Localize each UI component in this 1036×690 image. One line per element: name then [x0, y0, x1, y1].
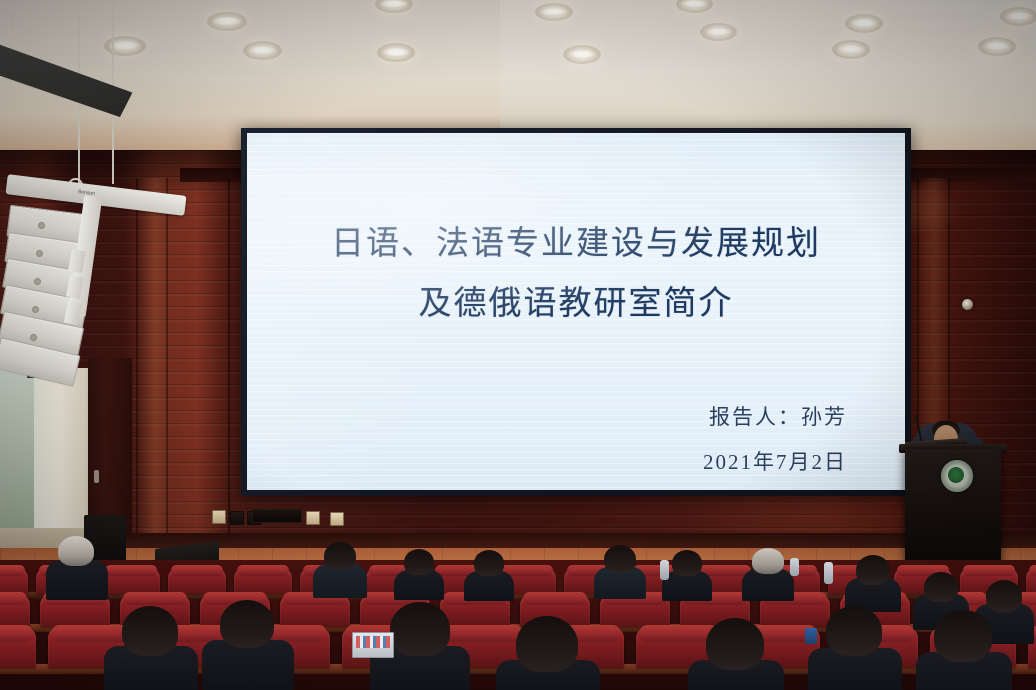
auditorium-seat-headrest — [51, 625, 131, 642]
recessed-downlight-icon — [682, 0, 707, 8]
screen-scanline — [247, 199, 905, 200]
auditorium-seat-headrest — [0, 592, 27, 605]
wall-round-fixture-icon — [962, 299, 973, 310]
screen-scanline — [247, 169, 905, 170]
screen-scanline — [247, 211, 905, 212]
attendee-front-center-b — [404, 549, 434, 575]
screen-scanline — [247, 397, 905, 398]
screen-scanline — [247, 205, 905, 206]
attendee-front-center-a — [324, 542, 356, 570]
recessed-downlight-icon — [984, 42, 1010, 51]
recessed-downlight-icon — [1006, 12, 1032, 21]
wall-service-panel[interactable] — [252, 509, 302, 523]
screen-scanline — [247, 157, 905, 158]
screen-scanline — [247, 181, 905, 182]
speaker-driver-dot-icon — [36, 250, 43, 257]
podium-emblem-inner-icon — [948, 467, 964, 483]
slide-date-label: 2021年7月2日 — [703, 446, 847, 476]
attendee-near-e — [706, 618, 764, 670]
speaker-driver-dot-icon — [32, 306, 39, 313]
slide-presenter-label: 报告人：孙芳 — [709, 401, 847, 431]
screen-scanline — [247, 373, 905, 374]
recessed-downlight-icon — [706, 28, 731, 36]
recessed-downlight-icon — [249, 46, 276, 55]
recessed-downlight-icon — [569, 50, 595, 59]
auditorium-seat-headrest — [523, 592, 587, 605]
auditorium-seat-headrest — [237, 565, 289, 576]
attendee-balding-center — [752, 548, 784, 574]
attendee-gray-haired-left-torso — [46, 560, 108, 600]
auditorium-seat-headrest — [105, 565, 157, 576]
screen-scanline — [247, 139, 905, 140]
auditorium-seat-headrest — [1029, 565, 1036, 576]
wall-panel-highlight — [140, 178, 170, 538]
screen-scanline — [247, 175, 905, 176]
auditorium-seat-headrest — [963, 565, 1015, 576]
screen-scanline — [247, 385, 905, 386]
screen-scanline — [247, 487, 905, 488]
speaker-driver-dot-icon — [38, 222, 45, 229]
projection-screen[interactable]: 日语、法语专业建设与发展规划 及德俄语教研室简介 报告人：孙芳 2021年7月2… — [247, 133, 905, 490]
hanging-line-array-speaker: Bonson — [0, 0, 250, 230]
attendee-near-f — [826, 606, 882, 656]
screen-scanline — [247, 433, 905, 434]
laptop-display — [356, 636, 390, 648]
screen-scanline — [247, 271, 905, 272]
screen-scanline — [247, 361, 905, 362]
wall-power-outlet[interactable] — [330, 512, 344, 526]
speaker-driver-dot-icon — [30, 334, 37, 341]
screen-scanline — [247, 265, 905, 266]
doorway-glass-panel — [0, 368, 34, 528]
attendee-center-d — [604, 545, 636, 573]
screen-scanline — [247, 379, 905, 380]
screen-scanline — [247, 133, 905, 134]
recessed-downlight-icon — [381, 0, 407, 8]
screen-scanline — [247, 349, 905, 350]
screen-scanline — [247, 367, 905, 368]
attendee-center-c — [474, 550, 504, 576]
water-bottle-2[interactable] — [824, 562, 833, 584]
screen-scanline — [247, 187, 905, 188]
auditorium-seat-headrest — [443, 625, 523, 642]
wall-panel-seam — [228, 178, 230, 538]
lecture-hall-photo: 安全出口 Bonson 日语、法语专业建设与发展规划 及德俄语教研室简介 报告人… — [0, 0, 1036, 690]
screen-scanline — [247, 193, 905, 194]
slide-title-line-1: 日语、法语专业建设与发展规划 — [247, 216, 905, 264]
attendee-near-d — [516, 616, 578, 672]
water-bottle-3[interactable] — [790, 558, 799, 576]
attendee-right-g — [924, 572, 958, 602]
attendee-near-c — [390, 602, 450, 656]
screen-scanline — [247, 481, 905, 482]
attendee-center-e — [672, 550, 702, 576]
auditorium-seat-headrest — [0, 565, 25, 576]
screen-scanline — [247, 439, 905, 440]
slide-title-line-2: 及德俄语教研室简介 — [247, 276, 905, 324]
wall-power-outlet[interactable] — [212, 510, 226, 524]
attendee-near-g — [934, 610, 992, 662]
wall-panel-dark[interactable] — [230, 511, 244, 525]
attendee-right-h — [986, 580, 1022, 612]
recessed-downlight-icon — [851, 19, 877, 28]
screen-scanline — [247, 163, 905, 164]
water-bottle-1[interactable] — [660, 560, 669, 580]
wall-power-outlet[interactable] — [306, 511, 320, 525]
laptop-screen[interactable] — [352, 632, 394, 658]
auditorium-seat-headrest — [123, 592, 187, 605]
wall-panel-seam — [136, 178, 138, 538]
screen-scanline — [247, 391, 905, 392]
speaker-driver-dot-icon — [34, 278, 41, 285]
screen-scanline — [247, 145, 905, 146]
screen-scanline — [247, 151, 905, 152]
door-handle[interactable] — [94, 470, 99, 483]
attendee-gray-haired-left — [58, 536, 94, 566]
auditorium-seat-headrest — [0, 625, 33, 642]
recessed-downlight-icon — [838, 45, 864, 54]
recessed-downlight-icon — [541, 8, 567, 16]
blue-cup[interactable] — [805, 628, 817, 644]
screen-scanline — [247, 343, 905, 344]
attendee-near-b — [220, 600, 274, 648]
attendee-right-f — [856, 555, 890, 585]
auditorium-seat-headrest — [171, 565, 223, 576]
screen-scanline — [247, 337, 905, 338]
recessed-downlight-icon — [383, 48, 409, 57]
rigging-cable — [12, 0, 14, 30]
screen-scanline — [247, 331, 905, 332]
screen-scanline — [247, 325, 905, 326]
attendee-near-a — [122, 606, 178, 656]
screen-scanline — [247, 355, 905, 356]
